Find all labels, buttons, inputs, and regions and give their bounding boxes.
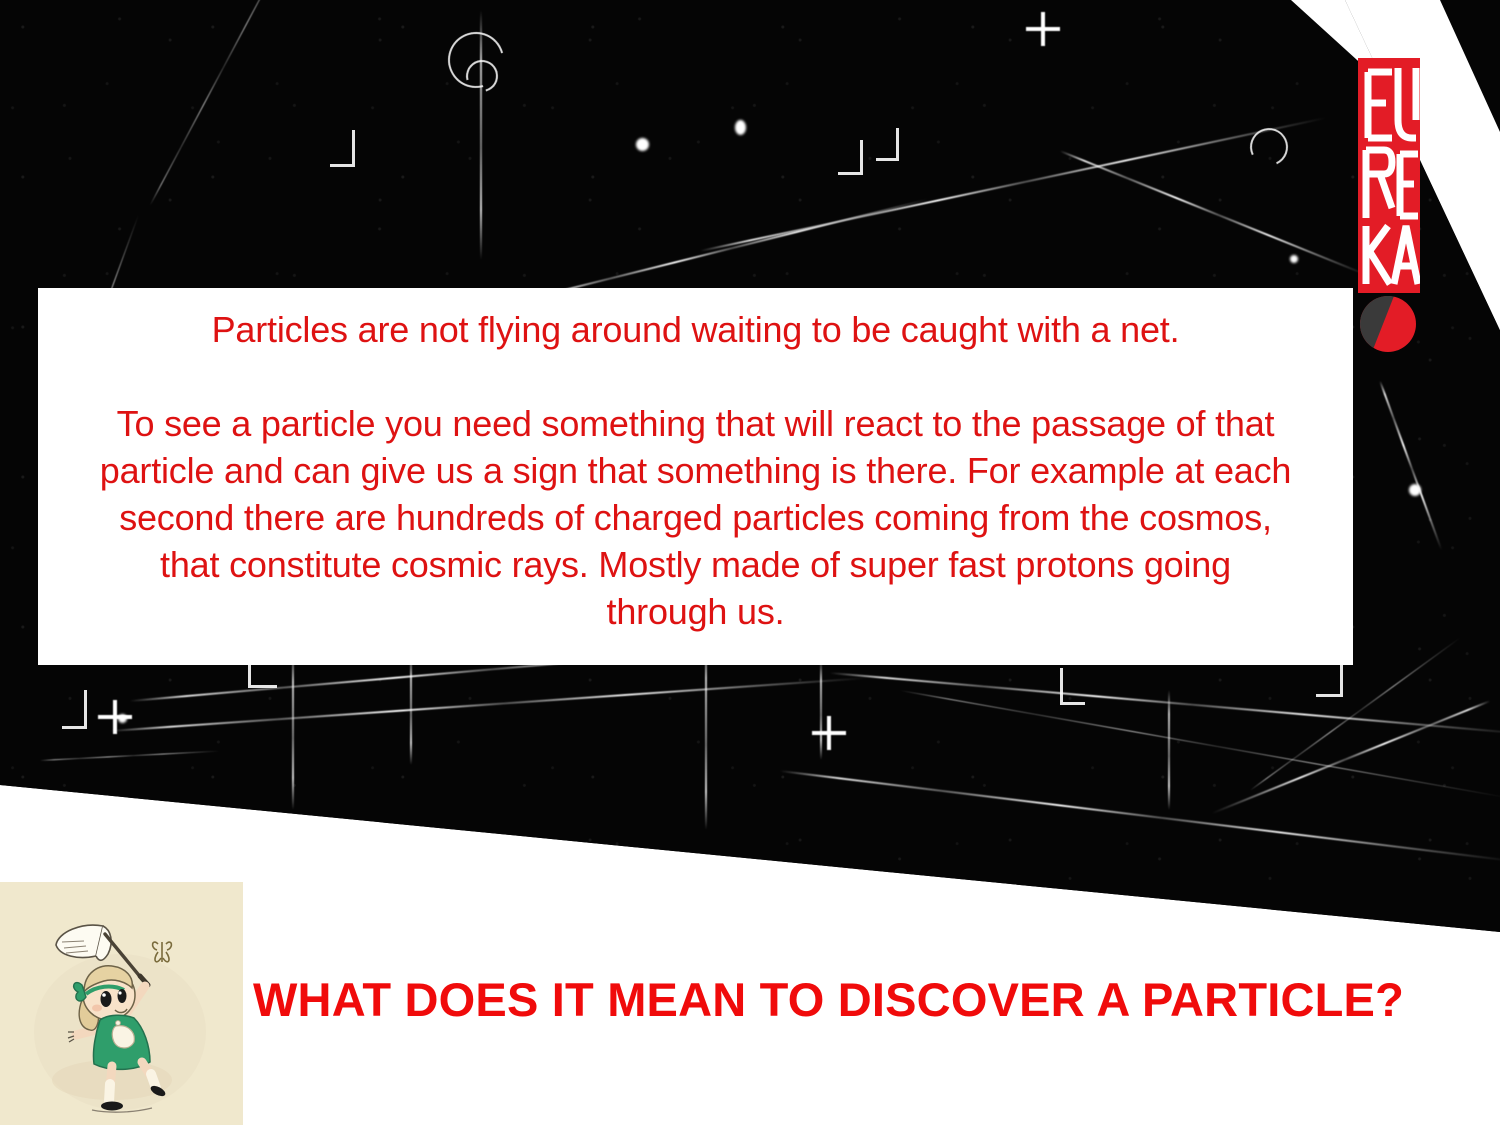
body-text-card: Particles are not flying around waiting … [38, 288, 1353, 665]
body-paragraph-line: that constitute cosmic rays. Mostly made… [60, 541, 1331, 588]
girl-with-net-illustration [0, 882, 243, 1125]
girl-with-net-drawing [0, 882, 243, 1125]
frame-bracket [1060, 668, 1085, 705]
body-paragraph-line: through us. [60, 588, 1331, 635]
eureka-logo[interactable] [1358, 58, 1420, 293]
fiducial-cross [812, 716, 846, 750]
track-blob [735, 120, 746, 135]
frame-bracket [1316, 660, 1343, 697]
fiducial-line [410, 655, 412, 765]
track-blob [1290, 255, 1298, 263]
track-blob [636, 138, 649, 151]
body-paragraph-line: second there are hundreds of charged par… [60, 494, 1331, 541]
eureka-logo-dot-icon [1360, 296, 1416, 352]
fiducial-cross [98, 700, 132, 734]
fiducial-line [1168, 690, 1170, 810]
body-paragraph-line: To see a particle you need something tha… [60, 400, 1331, 447]
frame-bracket [62, 690, 87, 729]
frame-bracket [876, 128, 899, 161]
track-blob [1409, 484, 1421, 496]
paragraph-spacer [60, 353, 1331, 400]
frame-bracket [330, 130, 355, 167]
page-title: WHAT DOES IT MEAN TO DISCOVER A PARTICLE… [253, 972, 1404, 1028]
frame-bracket [838, 140, 863, 175]
fiducial-line [292, 650, 294, 810]
slide-canvas: Particles are not flying around waiting … [0, 0, 1500, 1125]
body-paragraph-line: particle and can give us a sign that som… [60, 447, 1331, 494]
fiducial-cross [1026, 12, 1060, 46]
fiducial-line [705, 640, 707, 830]
intro-line: Particles are not flying around waiting … [60, 306, 1331, 353]
